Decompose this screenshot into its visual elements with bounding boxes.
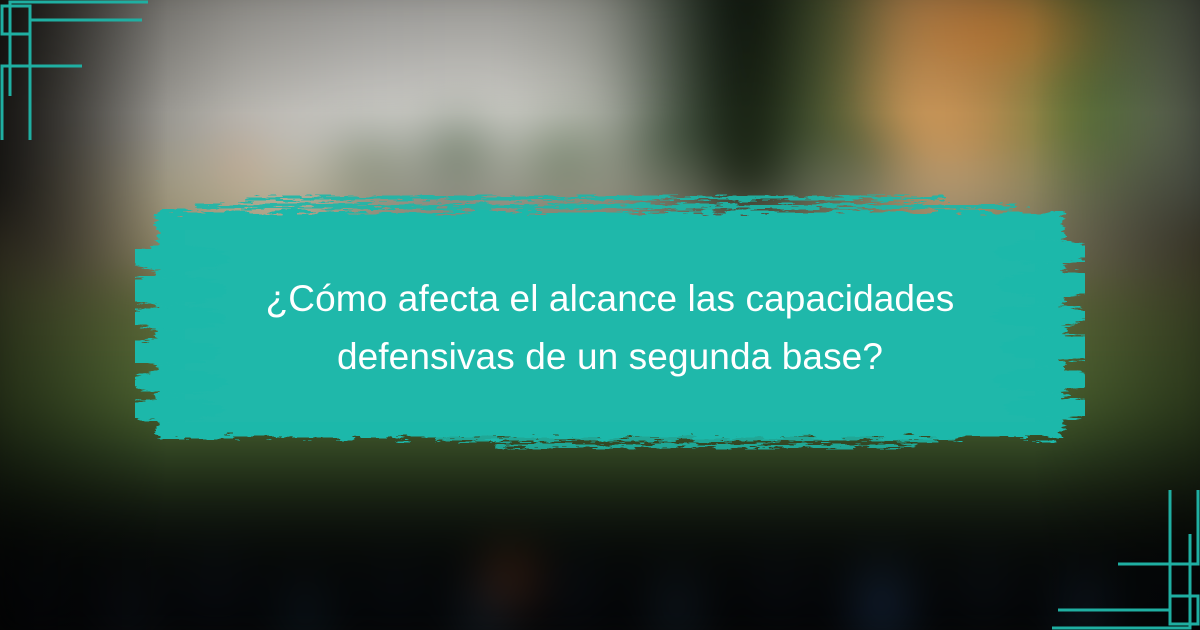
corner-decoration-bottom-right [1000,430,1200,630]
headline-banner: ¿Cómo afecta el alcance las capacidades … [135,186,1085,458]
social-card: ¿Cómo afecta el alcance las capacidades … [0,0,1200,630]
headline-line-2: defensivas de un segunda base? [337,336,883,377]
headline-text: ¿Cómo afecta el alcance las capacidades … [135,270,1085,386]
corner-decoration-top-left [0,0,200,200]
headline-line-1: ¿Cómo afecta el alcance las capacidades [266,278,955,319]
